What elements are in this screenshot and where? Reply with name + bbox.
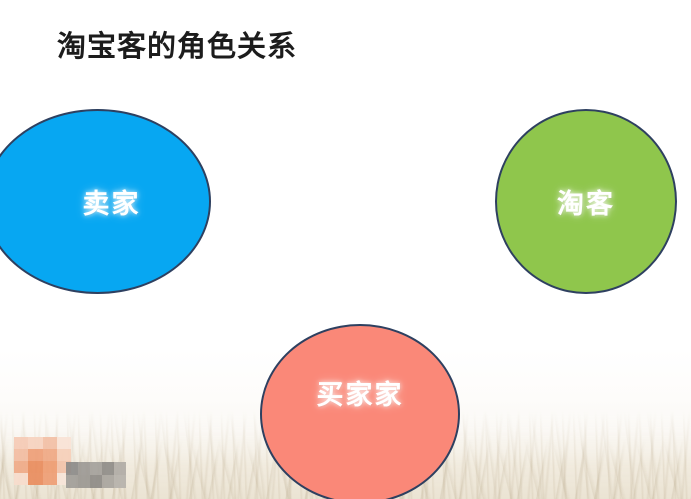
mosaic-tile [114, 462, 126, 475]
node-buyer[interactable]: 买家家 [260, 324, 460, 499]
mosaic-tile [66, 475, 78, 488]
mosaic-tile [14, 461, 28, 473]
mosaic-tile [43, 473, 57, 485]
node-affiliate-label: 淘客 [557, 182, 615, 221]
mosaic-tile [14, 437, 28, 449]
mosaic-tile [90, 462, 102, 475]
mosaic-tile [78, 475, 90, 488]
mosaic-tile [43, 461, 57, 473]
mosaic-tile [43, 437, 57, 449]
watermark-mosaic-grey [66, 462, 126, 488]
node-affiliate[interactable]: 淘客 [495, 109, 677, 294]
mosaic-tile [43, 449, 57, 461]
mosaic-tile [114, 475, 126, 488]
page-title: 淘宝客的角色关系 [57, 30, 297, 63]
mosaic-tile [78, 462, 90, 475]
node-seller-label: 卖家 [83, 182, 141, 221]
watermark-mosaic-orange [14, 437, 71, 485]
node-buyer-label: 买家家 [317, 373, 404, 412]
mosaic-tile [57, 449, 71, 461]
mosaic-tile [28, 437, 42, 449]
mosaic-tile [28, 473, 42, 485]
mosaic-tile [102, 475, 114, 488]
mosaic-tile [14, 449, 28, 461]
mosaic-tile [28, 449, 42, 461]
slide-canvas: 淘宝客的角色关系 卖家 淘客 买家家 [0, 0, 691, 499]
mosaic-tile [66, 462, 78, 475]
mosaic-tile [102, 462, 114, 475]
mosaic-tile [90, 475, 102, 488]
mosaic-tile [28, 461, 42, 473]
mosaic-tile [14, 473, 28, 485]
mosaic-tile [57, 437, 71, 449]
